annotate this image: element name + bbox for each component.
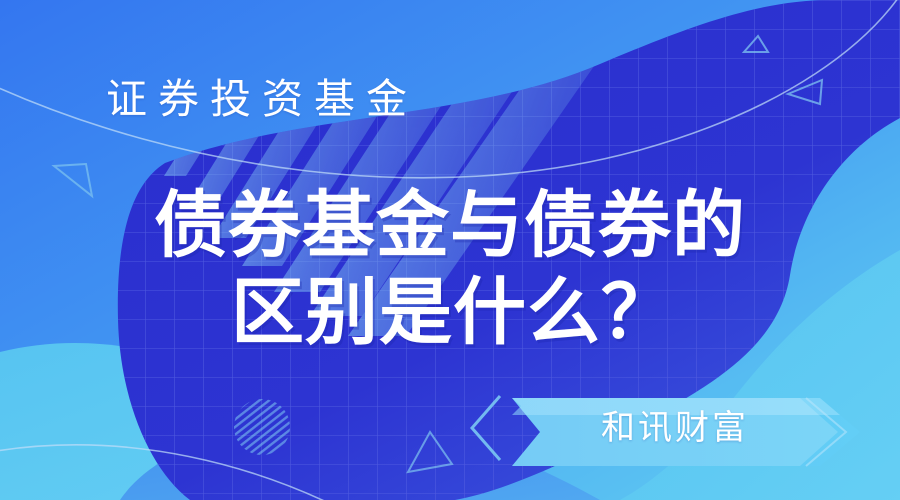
poster-title-line-2: 区别是什么？ (6, 269, 900, 356)
poster-title-line-1: 债券基金与债券的 (0, 182, 900, 269)
hatched-circle (234, 399, 290, 455)
poster-title-block: 债券基金与债券的 区别是什么？ (0, 182, 900, 356)
poster-canvas: 证券投资基金 债券基金与债券的 区别是什么？ 和讯财富 (0, 0, 900, 500)
poster-subtitle: 证券投资基金 (106, 72, 418, 126)
brand-banner-label: 和讯财富 (560, 406, 790, 450)
